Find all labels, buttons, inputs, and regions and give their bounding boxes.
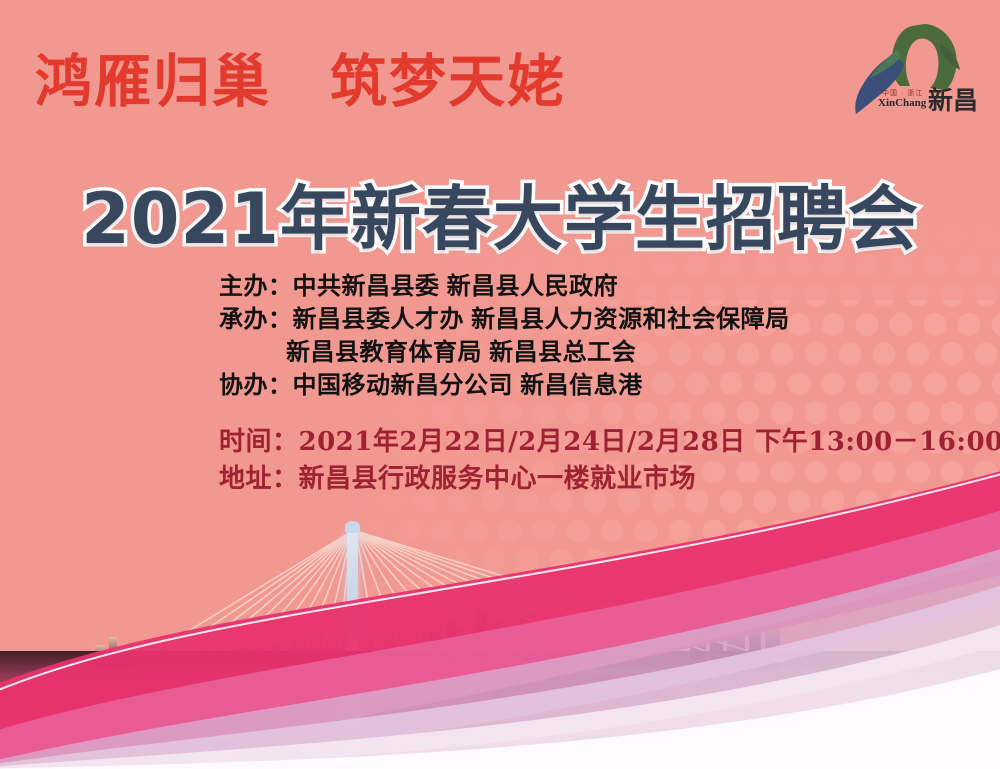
bridge-pylon-cap [345, 521, 360, 533]
organizer-list: 主办：中共新昌县委 新昌县人民政府 承办：新昌县委人才办 新昌县人力资源和社会保… [219, 270, 939, 402]
recruitment-fair-poster: 鸿雁归巢 筑梦天姥 中国 · 浙江 XinChang 新昌 2021年新春大学生… [0, 0, 1000, 769]
organizer-line-host: 主办：中共新昌县委 新昌县人民政府 [219, 270, 939, 303]
organizer-line-coorganizer: 协办：中国移动新昌分公司 新昌信息港 [219, 369, 939, 402]
river-rock [560, 735, 680, 761]
organizer-line-undertaker: 承办：新昌县委人才办 新昌县人力资源和社会保障局 [219, 303, 939, 336]
logo-brand-name: 新昌 [928, 89, 978, 114]
xinchang-logo: 中国 · 浙江 XinChang 新昌 [854, 14, 982, 126]
river-water [0, 651, 1000, 769]
poster-headline: 鸿雁归巢 筑梦天姥 [35, 36, 566, 118]
river-rock [210, 739, 300, 761]
event-info: 时间：2021年2月22日/2月24日/2月28日 下午13:00－16:00 … [219, 424, 979, 498]
event-time: 时间：2021年2月22日/2月24日/2月28日 下午13:00－16:00 [219, 424, 979, 461]
logo-en-name: XinChang [878, 97, 926, 109]
bridge-night-photo [0, 469, 1000, 769]
river-rock [320, 745, 390, 761]
event-address: 地址：新昌县行政服务中心一楼就业市场 [219, 461, 979, 498]
organizer-line-undertaker-cont: 新昌县教育体育局 新昌县总工会 [219, 336, 939, 369]
page-title: 2021年新春大学生招聘会 [0, 163, 1000, 264]
